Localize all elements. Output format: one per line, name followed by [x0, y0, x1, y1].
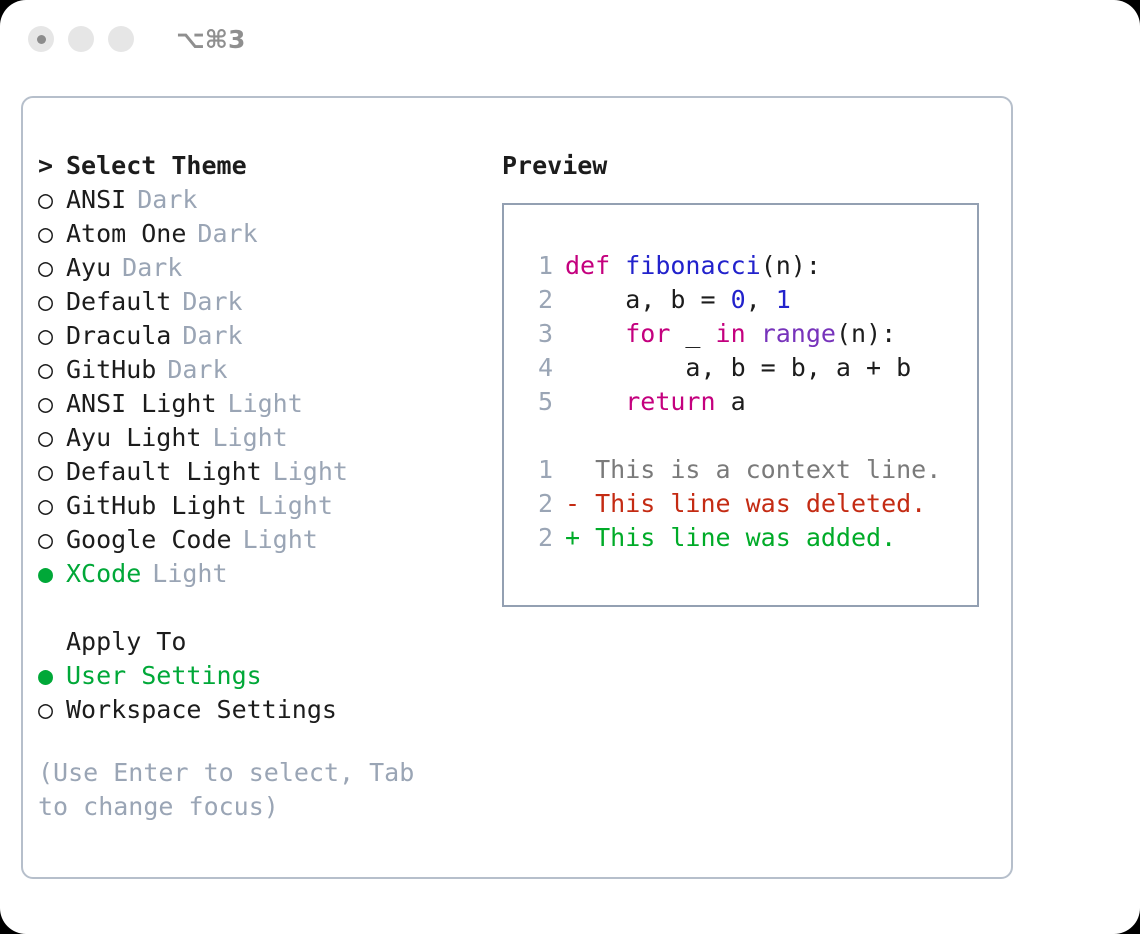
code-token: _ — [670, 319, 715, 348]
theme-list-item[interactable]: ○Atom OneDark — [38, 216, 498, 250]
theme-kind-label: Light — [212, 423, 287, 452]
code-token: , — [746, 285, 776, 314]
line-number: 2 — [523, 283, 553, 317]
apply-to-label: Workspace Settings — [66, 695, 337, 724]
theme-list-item[interactable]: ●XCodeLight — [38, 556, 498, 590]
code-token: range — [761, 319, 836, 348]
code-token: (n): — [836, 319, 896, 348]
code-line: 1def fibonacci(n): — [523, 249, 977, 283]
radio-unselected-icon[interactable]: ○ — [38, 253, 66, 282]
theme-kind-label: Dark — [167, 355, 227, 384]
code-line-content: a, b = 0, 1 — [565, 283, 791, 317]
theme-list-item[interactable]: ○Google CodeLight — [38, 522, 498, 556]
diff-line-content: - This line was deleted. — [565, 487, 926, 521]
code-token — [746, 319, 761, 348]
theme-name: ANSI Light — [66, 389, 217, 418]
radio-unselected-icon[interactable]: ○ — [38, 219, 66, 248]
code-line: 2 a, b = 0, 1 — [523, 283, 977, 317]
theme-list: ○ANSIDark○Atom OneDark○AyuDark○DefaultDa… — [38, 182, 498, 590]
line-number: 4 — [523, 351, 553, 385]
select-theme-header: > Select Theme — [38, 148, 498, 182]
apply-to-list: ●User Settings○Workspace Settings — [38, 658, 498, 726]
code-line-content: for _ in range(n): — [565, 317, 896, 351]
apply-to-item[interactable]: ●User Settings — [38, 658, 498, 692]
theme-name: Default — [66, 287, 171, 316]
line-number: 1 — [523, 453, 553, 487]
theme-list-item[interactable]: ○Ayu LightLight — [38, 420, 498, 454]
theme-kind-label: Dark — [182, 321, 242, 350]
diff-line: 1 This is a context line. — [523, 453, 977, 487]
theme-kind-label: Dark — [137, 185, 197, 214]
radio-unselected-icon[interactable]: ○ — [38, 185, 66, 214]
theme-list-item[interactable]: ○DefaultDark — [38, 284, 498, 318]
theme-name: Google Code — [66, 525, 232, 554]
code-token — [565, 319, 625, 348]
main-panel: > Select Theme ○ANSIDark○Atom OneDark○Ay… — [21, 96, 1013, 879]
diff-line-content: This is a context line. — [565, 453, 941, 487]
apply-to-item[interactable]: ○Workspace Settings — [38, 692, 498, 726]
theme-list-item[interactable]: ○GitHub LightLight — [38, 488, 498, 522]
theme-name: ANSI — [66, 185, 126, 214]
diff-line: 2+ This line was added. — [523, 521, 977, 555]
code-diff-gap — [523, 419, 977, 453]
radio-unselected-icon[interactable]: ○ — [38, 355, 66, 384]
code-token: return — [625, 387, 715, 416]
line-number: 1 — [523, 249, 553, 283]
apply-to-label: User Settings — [66, 661, 262, 690]
theme-selector-column: > Select Theme ○ANSIDark○Atom OneDark○Ay… — [38, 148, 498, 824]
theme-kind-label: Dark — [122, 253, 182, 282]
app-window: ⌥⌘3 > Select Theme ○ANSIDark○Atom OneDar… — [0, 0, 1140, 934]
prompt-caret-icon: > — [38, 151, 66, 180]
code-token: for — [625, 319, 670, 348]
code-line-content: a, b = b, a + b — [565, 351, 911, 385]
preview-column: Preview 1def fibonacci(n):2 a, b = 0, 13… — [502, 148, 1002, 607]
theme-name: GitHub — [66, 355, 156, 384]
theme-list-item[interactable]: ○GitHubDark — [38, 352, 498, 386]
preview-title: Preview — [502, 148, 1002, 182]
theme-name: Dracula — [66, 321, 171, 350]
theme-name: Atom One — [66, 219, 186, 248]
code-token — [565, 387, 625, 416]
radio-unselected-icon[interactable]: ○ — [38, 525, 66, 554]
code-token: a, b = b, a + b — [565, 353, 911, 382]
active-dot-inner — [37, 35, 46, 44]
code-line: 3 for _ in range(n): — [523, 317, 977, 351]
theme-name: Default Light — [66, 457, 262, 486]
theme-name: Ayu — [66, 253, 111, 282]
preview-box: 1def fibonacci(n):2 a, b = 0, 13 for _ i… — [502, 203, 979, 607]
radio-unselected-icon[interactable]: ○ — [38, 457, 66, 486]
theme-list-item[interactable]: ○ANSIDark — [38, 182, 498, 216]
diff-line: 2- This line was deleted. — [523, 487, 977, 521]
theme-name: XCode — [66, 559, 141, 588]
radio-unselected-icon[interactable]: ○ — [38, 389, 66, 418]
theme-name: Ayu Light — [66, 423, 201, 452]
code-token: fibonacci — [625, 251, 760, 280]
theme-kind-label: Light — [243, 525, 318, 554]
diff-sample: 1 This is a context line.2- This line wa… — [523, 453, 977, 555]
code-token: def — [565, 251, 610, 280]
theme-kind-label: Dark — [197, 219, 257, 248]
line-number: 5 — [523, 385, 553, 419]
theme-kind-label: Light — [273, 457, 348, 486]
line-number: 2 — [523, 521, 553, 555]
code-sample: 1def fibonacci(n):2 a, b = 0, 13 for _ i… — [523, 249, 977, 419]
theme-kind-label: Light — [152, 559, 227, 588]
radio-selected-icon[interactable]: ● — [38, 661, 66, 690]
theme-kind-label: Dark — [182, 287, 242, 316]
select-theme-title: Select Theme — [66, 151, 247, 180]
code-line: 5 return a — [523, 385, 977, 419]
list-spacer — [38, 590, 498, 624]
title-bar: ⌥⌘3 — [0, 0, 1140, 78]
diff-line-content: + This line was added. — [565, 521, 896, 555]
code-token: 1 — [776, 285, 791, 314]
window-dot-third[interactable] — [108, 26, 134, 52]
code-token — [610, 251, 625, 280]
theme-list-item[interactable]: ○ANSI LightLight — [38, 386, 498, 420]
code-line-content: def fibonacci(n): — [565, 249, 821, 283]
window-controls — [28, 26, 134, 52]
window-dot-second[interactable] — [68, 26, 94, 52]
radio-unselected-icon[interactable]: ○ — [38, 491, 66, 520]
panel-columns: > Select Theme ○ANSIDark○Atom OneDark○Ay… — [23, 98, 1011, 877]
code-token: a, b = — [565, 285, 731, 314]
code-token: a — [716, 387, 746, 416]
radio-unselected-icon[interactable]: ○ — [38, 321, 66, 350]
code-token: in — [716, 319, 746, 348]
keyboard-shortcut-label: ⌥⌘3 — [176, 25, 245, 54]
apply-to-header: Apply To — [38, 624, 498, 658]
code-line: 4 a, b = b, a + b — [523, 351, 977, 385]
theme-kind-label: Light — [258, 491, 333, 520]
code-line-content: return a — [565, 385, 746, 419]
line-number: 3 — [523, 317, 553, 351]
radio-selected-icon[interactable]: ● — [38, 559, 66, 588]
theme-name: GitHub Light — [66, 491, 247, 520]
radio-unselected-icon[interactable]: ○ — [38, 423, 66, 452]
keyboard-hint: (Use Enter to select, Tab to change focu… — [38, 756, 458, 824]
theme-list-item[interactable]: ○DraculaDark — [38, 318, 498, 352]
theme-list-item[interactable]: ○Default LightLight — [38, 454, 498, 488]
apply-to-title: Apply To — [66, 627, 186, 656]
code-token: 0 — [731, 285, 746, 314]
window-dot-active[interactable] — [28, 26, 54, 52]
line-number: 2 — [523, 487, 553, 521]
code-token: (n): — [761, 251, 821, 280]
radio-unselected-icon[interactable]: ○ — [38, 287, 66, 316]
radio-unselected-icon[interactable]: ○ — [38, 695, 66, 724]
theme-list-item[interactable]: ○AyuDark — [38, 250, 498, 284]
theme-kind-label: Light — [228, 389, 303, 418]
